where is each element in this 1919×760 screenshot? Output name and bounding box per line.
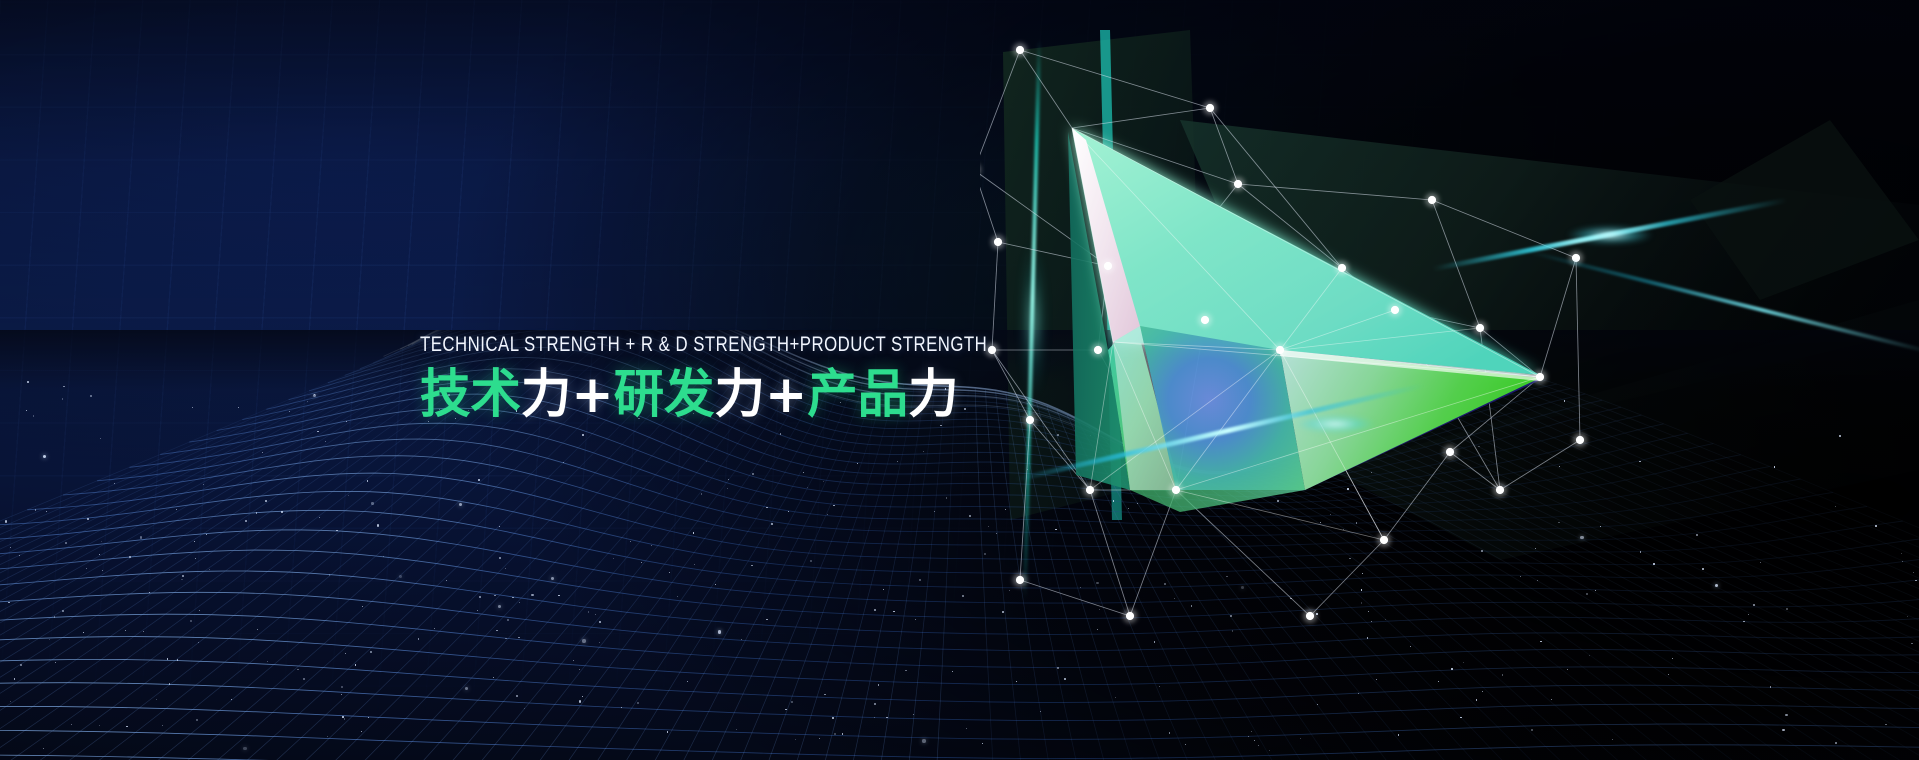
network-node (1569, 251, 1583, 265)
network-node (1231, 177, 1245, 191)
network-node (1425, 193, 1439, 207)
title-segment-1: 力+ (521, 365, 614, 425)
network-edge (1576, 258, 1580, 440)
network-edge (1540, 258, 1576, 377)
network-node (1388, 303, 1402, 317)
network-node (991, 235, 1005, 249)
network-edge (1090, 490, 1130, 616)
title-segment-5: 力 (908, 365, 958, 425)
network-edge (1432, 200, 1480, 328)
network-node (1493, 483, 1507, 497)
network-edge (1020, 580, 1130, 616)
network-edge (1238, 184, 1432, 200)
network-edge (1020, 420, 1030, 580)
network-node (1443, 445, 1457, 459)
network-node (1533, 370, 1547, 384)
network-edge (1432, 200, 1576, 258)
network-node (1573, 433, 1587, 447)
eyebrow-text: TECHNICAL STRENGTH + R & D STRENGTH+PROD… (420, 334, 916, 355)
network-edge (1500, 440, 1580, 490)
logo-svg (980, 20, 1600, 640)
network-node (1303, 609, 1317, 623)
network-node (1273, 343, 1287, 357)
network-node (1013, 43, 1027, 57)
title-segment-4: 产品 (807, 365, 908, 425)
network-edge (1450, 452, 1500, 490)
network-node (1169, 483, 1183, 497)
network-node (1091, 343, 1105, 357)
network-edge (1020, 50, 1072, 128)
title-segment-0: 技术 (420, 365, 521, 425)
network-node (1123, 609, 1137, 623)
network-edge (1072, 108, 1210, 128)
title-segment-3: 力+ (715, 365, 808, 425)
network-node (1101, 259, 1115, 273)
network-node (1473, 321, 1487, 335)
page-title: 技术力+研发力+产品力 (420, 367, 1021, 423)
logo-triangular-prism (980, 20, 1600, 640)
network-edge (1020, 50, 1210, 108)
network-edge (1130, 490, 1176, 616)
network-edge (1310, 540, 1384, 616)
network-edge (980, 50, 1020, 170)
network-node (1335, 261, 1349, 275)
headline-block: TECHNICAL STRENGTH + R & D STRENGTH+PROD… (420, 334, 1040, 423)
title-segment-2: 研发 (614, 365, 715, 425)
network-node (1203, 101, 1217, 115)
network-node (1013, 573, 1027, 587)
network-node (1198, 313, 1212, 327)
network-edge (1210, 108, 1238, 184)
logo-face-bottom (1130, 490, 1305, 512)
network-node (1083, 483, 1097, 497)
network-edge (1384, 452, 1450, 540)
network-node (1377, 533, 1391, 547)
face-wire (1176, 490, 1384, 540)
hero-banner: TECHNICAL STRENGTH + R & D STRENGTH+PROD… (0, 0, 1919, 760)
